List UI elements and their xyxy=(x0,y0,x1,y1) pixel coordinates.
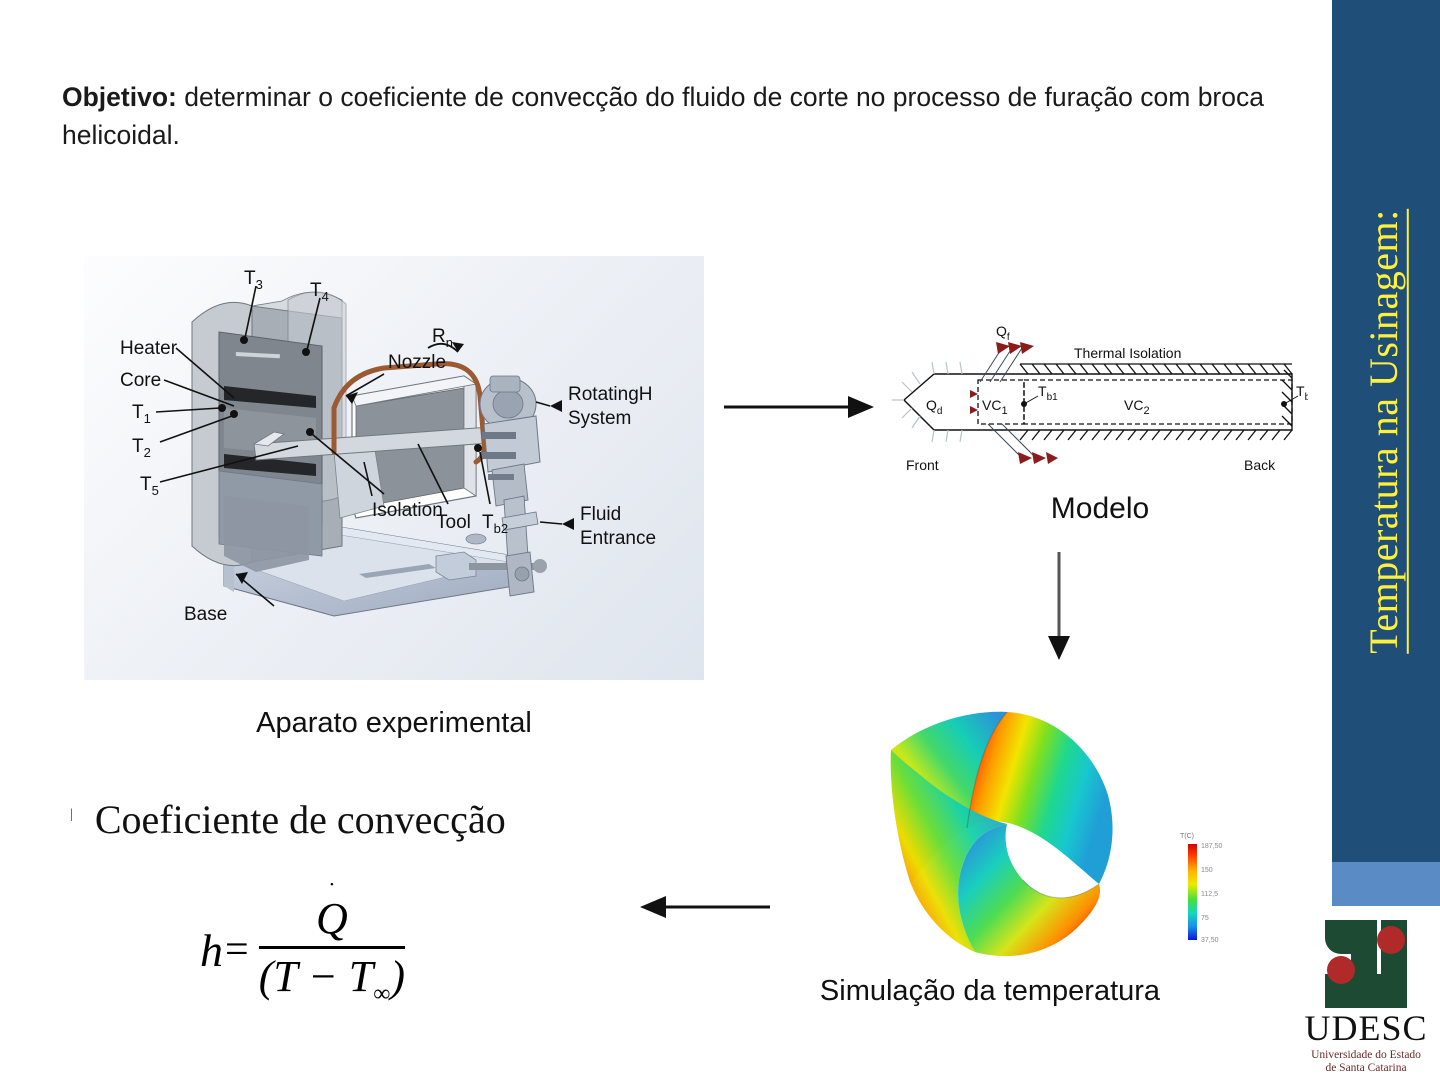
colorbar-tick-3: 75 xyxy=(1201,915,1209,922)
formula-minus: − xyxy=(308,952,338,1001)
colorbar-tick-1: 150 xyxy=(1201,867,1213,874)
apparatus-label-tool: Tool xyxy=(436,512,471,533)
apparatus-label-rn: Rn xyxy=(432,326,453,350)
logo-circle-lower xyxy=(1327,956,1355,984)
model-label-qf: Qf xyxy=(996,323,1010,343)
colorbar-tick-4: 37,50 xyxy=(1201,937,1219,944)
bullet-marker-icon: | xyxy=(70,808,73,822)
logo-circle-upper xyxy=(1377,926,1405,954)
apparatus-label-rotating2: System xyxy=(568,408,631,429)
slide-canvas: Temperatura na Usinagem: UDESC Universid… xyxy=(0,0,1440,1080)
arrow-apparatus-to-model xyxy=(724,392,874,422)
convection-formula: h = ˙Q (T − T∞) xyxy=(200,890,500,1010)
apparatus-label-t3: T3 xyxy=(244,268,263,292)
apparatus-label-fluid: Fluid xyxy=(580,504,621,525)
model-label-tb2: Tb2 xyxy=(1296,383,1308,403)
colorbar-tick-0: 187,50 xyxy=(1201,843,1223,850)
apparatus-label-core: Core xyxy=(120,370,161,391)
udesc-logo: UDESC Universidade do Estado de Santa Ca… xyxy=(1300,920,1432,1070)
apparatus-label-t1: T1 xyxy=(132,402,151,426)
formula-lhs: h xyxy=(200,924,223,977)
logo-shape-bottom-right xyxy=(1355,974,1407,1008)
formula-denominator: (T − T∞) xyxy=(259,949,405,1008)
formula-fraction: ˙Q (T − T∞) xyxy=(259,893,405,1008)
model-label-front: Front xyxy=(906,457,939,473)
udesc-wordmark: UDESC xyxy=(1300,1010,1432,1046)
colorbar-drawing: T(C) 187,50 150 112,5 75 37,50 xyxy=(1178,830,1250,948)
model-drawing: Qf Qd Thermal Isolation VC1 VC2 Tb1 Tb2 … xyxy=(892,312,1308,492)
formula-dot-accent: ˙ xyxy=(328,879,336,906)
apparatus-label-t4: T4 xyxy=(310,280,329,304)
sidebar-title-container: Temperatura na Usinagem: xyxy=(1332,0,1440,862)
simulation-caption: Simulação da temperatura xyxy=(700,975,1280,1008)
apparatus-label-fluid2: Entrance xyxy=(580,528,656,549)
formula-t-inf: T xyxy=(349,952,373,1001)
apparatus-label-t2: T2 xyxy=(132,436,151,460)
simulation-colorbar: T(C) 187,50 150 112,5 75 37,50 xyxy=(1178,830,1250,948)
model-figure: Qf Qd Thermal Isolation VC1 VC2 Tb1 Tb2 … xyxy=(892,312,1308,492)
model-label-thermal-isolation: Thermal Isolation xyxy=(1074,345,1181,361)
sidebar-lower-band xyxy=(1332,862,1440,906)
udesc-logo-mark xyxy=(1311,920,1421,1008)
simulation-surface xyxy=(855,688,1175,974)
apparatus-figure: T3 T4 Heater Core T1 T2 T5 Isolation Too… xyxy=(84,256,704,680)
apparatus-label-tb2: Tb2 xyxy=(482,512,508,536)
colorbar-title: T(C) xyxy=(1180,833,1194,840)
udesc-subtitle-line2: de Santa Catarina xyxy=(1325,1062,1406,1074)
objective-label: Objetivo: xyxy=(62,82,177,112)
model-caption: Modelo xyxy=(892,492,1308,526)
udesc-subtitle: Universidade do Estado de Santa Catarina xyxy=(1300,1049,1432,1075)
formula-numerator: ˙Q xyxy=(286,893,378,946)
formula-infinity: ∞ xyxy=(373,980,390,1006)
formula-paren-open: ( xyxy=(259,952,274,1001)
apparatus-label-base: Base xyxy=(184,604,227,625)
logo-shape-top-left xyxy=(1325,920,1377,954)
udesc-subtitle-line1: Universidade do Estado xyxy=(1311,1049,1421,1061)
arrow-model-to-simulation xyxy=(1044,552,1074,660)
model-label-back: Back xyxy=(1244,457,1276,473)
colorbar-tick-2: 112,5 xyxy=(1201,891,1218,898)
apparatus-label-nozzle: Nozzle xyxy=(388,352,446,373)
objective-text: determinar o coeficiente de convecção do… xyxy=(62,82,1264,150)
sidebar-title: Temperatura na Usinagem: xyxy=(1364,209,1409,654)
bullet-text: Coeficiente de convecção xyxy=(95,800,506,840)
formula-paren-close: ) xyxy=(390,952,405,1001)
apparatus-label-t5: T5 xyxy=(140,474,159,498)
arrow-simulation-to-formula xyxy=(640,892,770,922)
convection-bullet-row: | Coeficiente de convecção xyxy=(70,800,690,840)
formula-t: T xyxy=(273,952,297,1001)
formula-equals: = xyxy=(225,926,249,974)
apparatus-caption: Aparato experimental xyxy=(84,707,704,740)
apparatus-label-rotating: RotatingH xyxy=(568,384,653,405)
apparatus-label-isolation: Isolation xyxy=(372,500,443,521)
apparatus-drawing: T3 T4 Heater Core T1 T2 T5 Isolation Too… xyxy=(84,256,704,680)
apparatus-label-heater: Heater xyxy=(120,338,178,359)
simulation-figure xyxy=(855,688,1175,974)
objective-paragraph: Objetivo: determinar o coeficiente de co… xyxy=(62,78,1277,155)
